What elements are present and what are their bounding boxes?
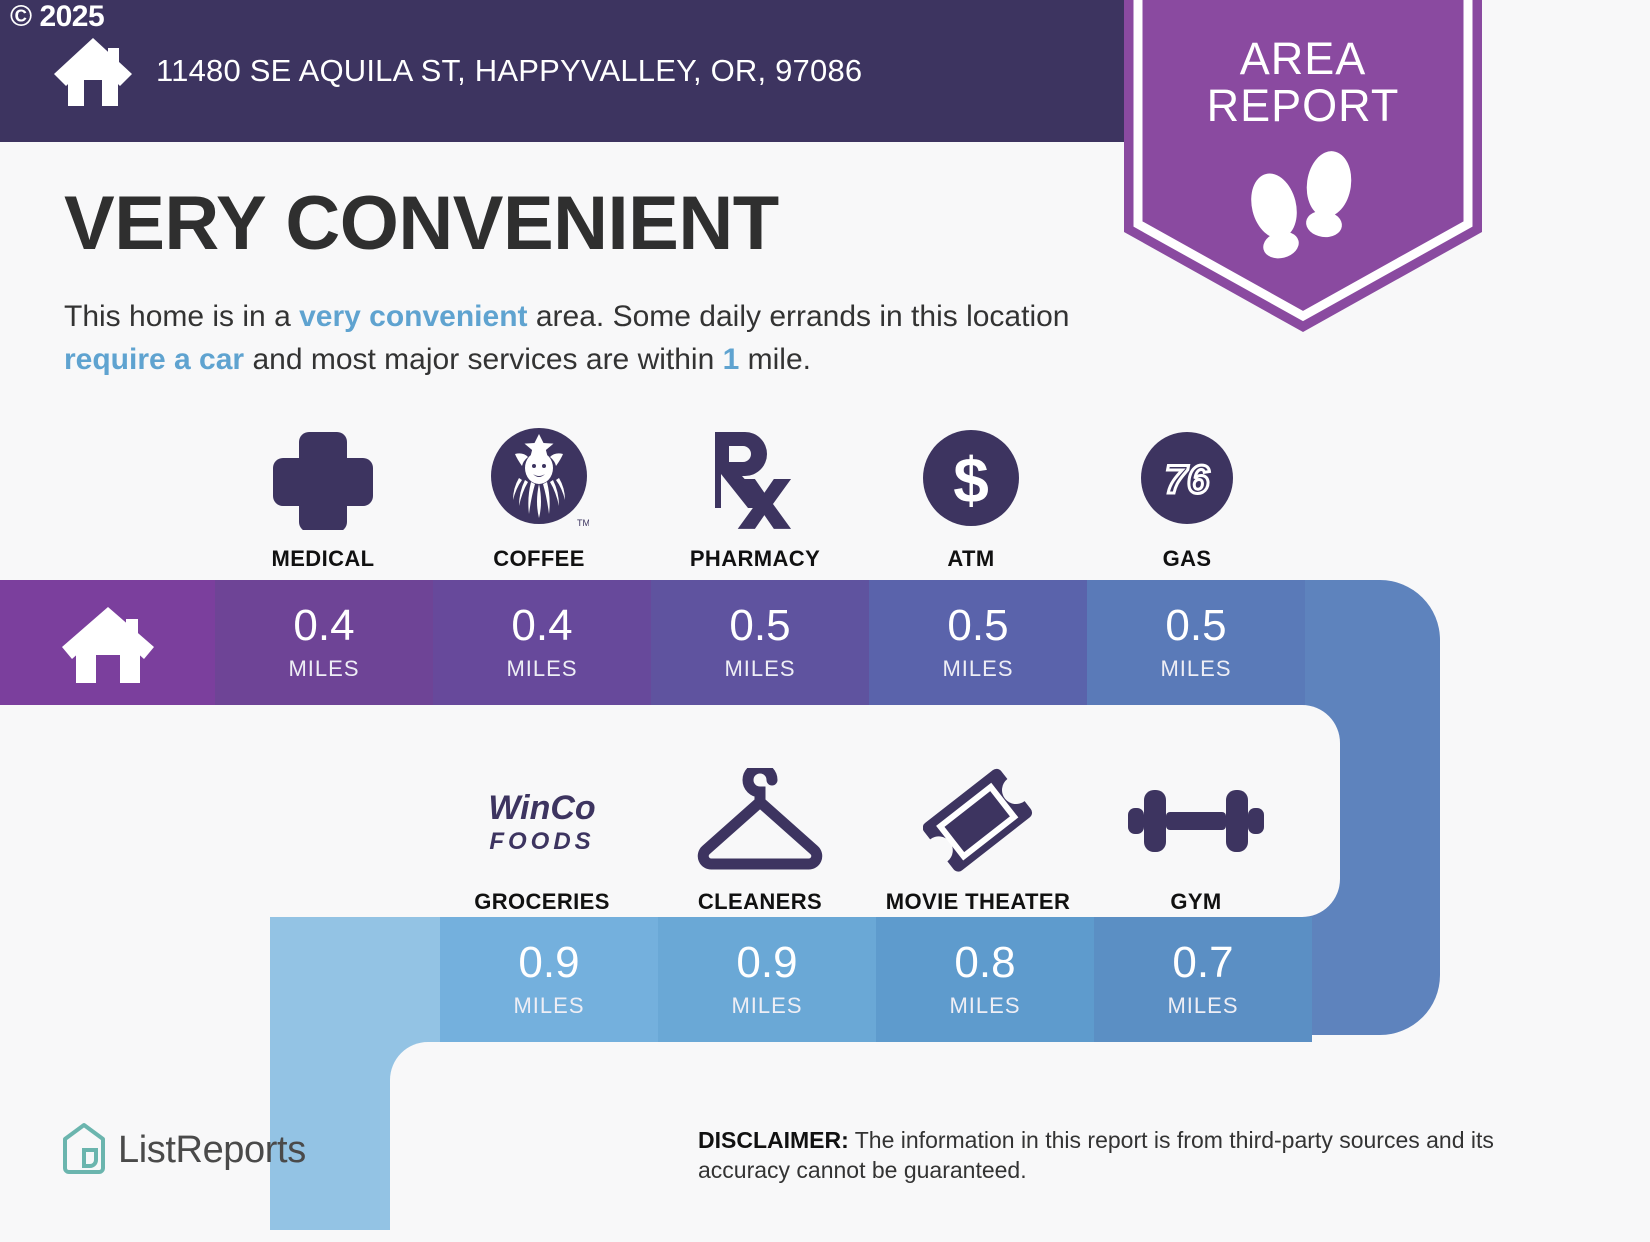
distance-cell-movie-theater: 0.8 MILES [876, 917, 1094, 1043]
poi-icon-row-1: MEDICAL [215, 412, 1295, 572]
distance-bar-row-1: 0.4 MILES 0.4 MILES 0.5 MILES 0.5 MILES … [0, 580, 1440, 706]
header-bar: © 2025 11480 SE AQUILA ST, HAPPYVALLEY, … [0, 0, 1182, 142]
hero-description: This home is in a very convenient area. … [64, 296, 1124, 381]
poi-cell-gas: 76 GAS [1079, 412, 1295, 572]
movie-ticket-icon [923, 767, 1033, 875]
poi-label: MEDICAL [271, 546, 374, 572]
svg-text:FOODS: FOODS [489, 828, 594, 855]
hero-text-1: This home is in a [64, 300, 299, 333]
distance-unit: MILES [942, 656, 1013, 682]
poi-label: CLEANERS [698, 889, 822, 915]
poi-cell-coffee: TM COFFEE [431, 412, 647, 572]
distance-cell-atm: 0.5 MILES [869, 580, 1087, 706]
poi-label: MOVIE THEATER [886, 889, 1070, 915]
svg-text:WinCo: WinCo [488, 789, 595, 827]
poi-cell-atm: $ ATM [863, 412, 1079, 572]
home-icon [60, 603, 156, 683]
property-address: 11480 SE AQUILA ST, HAPPYVALLEY, OR, 970… [156, 53, 862, 89]
poi-icon-row-2: WinCo FOODS GROCERIES CLEANERS MOVIE THE… [433, 755, 1305, 915]
poi-label: COFFEE [493, 546, 585, 572]
distance-unit: MILES [288, 656, 359, 682]
page-title: VERY CONVENIENT [64, 186, 1124, 262]
distance-cell-groceries: 0.9 MILES [440, 917, 658, 1043]
svg-text:76: 76 [1165, 458, 1210, 502]
distance-unit: MILES [724, 656, 795, 682]
home-icon [52, 36, 134, 106]
poi-cell-movie-theater: MOVIE THEATER [869, 755, 1087, 915]
poi-label: ATM [947, 546, 994, 572]
distance-value: 0.4 [293, 604, 354, 648]
starbucks-logo-icon: TM [489, 424, 589, 532]
area-report-badge: AREA REPORT [1124, 0, 1482, 332]
poi-label: GAS [1163, 546, 1212, 572]
distance-cell-medical: 0.4 MILES [215, 580, 433, 706]
distance-value: 0.7 [1172, 941, 1233, 985]
clothes-hanger-icon [692, 767, 828, 875]
hero-text-2: area. Some daily errands in this locatio… [528, 300, 1070, 333]
poi-cell-pharmacy: PHARMACY [647, 412, 863, 572]
listreports-logo-text: ListReports [118, 1129, 306, 1172]
distance-value: 0.5 [729, 604, 790, 648]
poi-label: PHARMACY [690, 546, 820, 572]
listreports-house-icon [62, 1122, 106, 1179]
distance-bar-row-2: 0.9 MILES 0.9 MILES 0.8 MILES 0.7 MILES [270, 917, 1440, 1043]
seventysix-logo-icon: 76 [1140, 424, 1234, 532]
disclaimer-label: DISCLAIMER: [698, 1127, 849, 1153]
poi-cell-groceries: WinCo FOODS GROCERIES [433, 755, 651, 915]
distance-cell-cleaners: 0.9 MILES [658, 917, 876, 1043]
dumbbell-icon [1126, 767, 1266, 875]
distance-unit: MILES [506, 656, 577, 682]
distance-unit: MILES [1167, 993, 1238, 1019]
hero-highlight-2: require a car [64, 343, 244, 376]
poi-label: GYM [1170, 889, 1221, 915]
disclaimer-text: DISCLAIMER: The information in this repo… [698, 1125, 1558, 1186]
winco-foods-logo-icon: WinCo FOODS [472, 767, 612, 875]
poi-cell-cleaners: CLEANERS [651, 755, 869, 915]
distance-value: 0.5 [947, 604, 1008, 648]
dollar-circle-icon: $ [921, 424, 1021, 532]
copyright-label: © 2025 [10, 2, 104, 32]
distance-bar-lead-in [270, 917, 440, 1043]
distance-cell-pharmacy: 0.5 MILES [651, 580, 869, 706]
distance-value: 0.4 [511, 604, 572, 648]
area-report-title: AREA REPORT [1124, 36, 1482, 130]
distance-cell-gas: 0.5 MILES [1087, 580, 1305, 706]
listreports-logo: ListReports [62, 1122, 306, 1179]
hero-text-3: and most major services are within [244, 343, 723, 376]
distance-value: 0.9 [736, 941, 797, 985]
hero-section: VERY CONVENIENT This home is in a very c… [64, 186, 1124, 381]
distance-unit: MILES [949, 993, 1020, 1019]
distance-unit: MILES [1160, 656, 1231, 682]
distance-value: 0.5 [1165, 604, 1226, 648]
poi-label: GROCERIES [474, 889, 610, 915]
svg-text:TM: TM [577, 518, 589, 528]
hero-highlight-1: very convenient [299, 300, 527, 333]
distance-cell-coffee: 0.4 MILES [433, 580, 651, 706]
distance-unit: MILES [513, 993, 584, 1019]
distance-cell-gym: 0.7 MILES [1094, 917, 1312, 1043]
poi-cell-medical: MEDICAL [215, 412, 431, 572]
rx-icon [701, 424, 809, 532]
hero-highlight-3: 1 [723, 343, 740, 376]
medical-cross-icon [271, 424, 375, 532]
distance-value: 0.8 [954, 941, 1015, 985]
distance-cell-home [0, 580, 215, 706]
hero-text-4: mile. [739, 343, 811, 376]
svg-text:$: $ [953, 444, 989, 516]
distance-value: 0.9 [518, 941, 579, 985]
poi-cell-gym: GYM [1087, 755, 1305, 915]
distance-unit: MILES [731, 993, 802, 1019]
